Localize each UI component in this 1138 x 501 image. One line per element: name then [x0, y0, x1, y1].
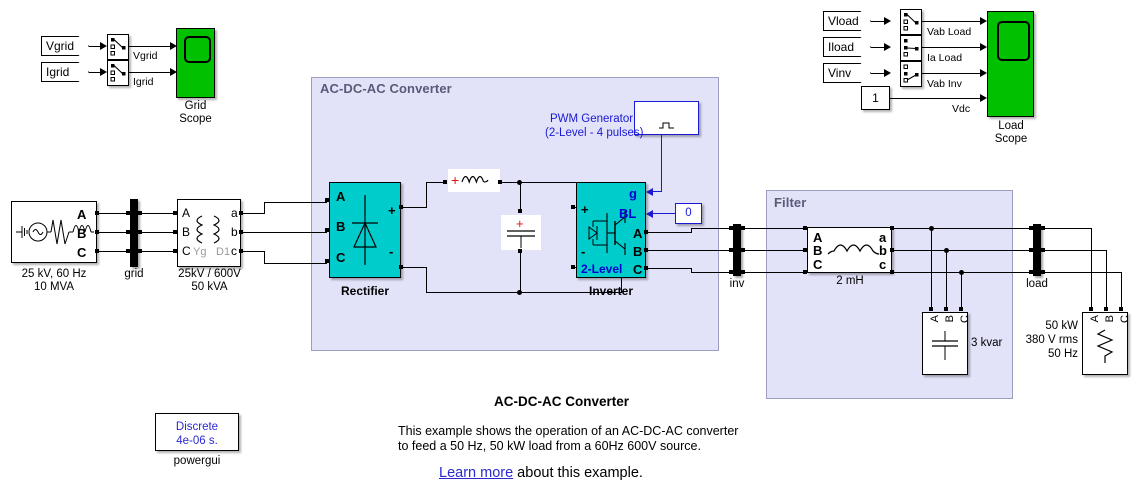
arrowhead	[884, 43, 891, 51]
wire-pwm-to-g-1	[661, 135, 662, 192]
inductor-icon: +	[448, 169, 500, 192]
wire-to-loadscope-2	[922, 47, 985, 48]
xfmr-port-A: A	[182, 207, 190, 219]
three-phase-source-block[interactable]: A B C	[11, 201, 97, 263]
port-marker	[173, 249, 177, 253]
inverter-port-g: g	[629, 187, 637, 200]
transformer-label-2: 50 kVA	[172, 281, 247, 294]
learn-more-suffix: about this example.	[513, 465, 643, 481]
signal-label-ia-load: Ia Load	[927, 52, 962, 64]
load-port-A: A	[1089, 315, 1101, 322]
wire-rect-plus-1	[403, 207, 427, 208]
wire-cap-tap-c	[961, 272, 962, 310]
grid-scope-block[interactable]	[176, 28, 215, 98]
capacitor-bank-port-A: A	[929, 315, 941, 322]
from-tag-vgrid[interactable]: Vgrid	[41, 36, 89, 56]
from-tag-vinv[interactable]: Vinv	[823, 63, 871, 83]
transformer-label-1: 25kV / 600V	[172, 268, 247, 281]
load-scope-label-1: Load	[971, 120, 1051, 133]
load-busbar-label: load	[1016, 278, 1058, 291]
blocking-constant-value: 0	[676, 207, 701, 219]
rectifier-port-a: A	[336, 190, 345, 203]
arrowhead	[884, 69, 891, 77]
manual-switch-icon	[108, 61, 128, 85]
load-label-3: 50 Hz	[1026, 348, 1078, 361]
inverter-port-a: A	[633, 227, 642, 240]
arrowhead	[100, 42, 107, 50]
description-body-line1: This example shows the operation of an A…	[398, 423, 738, 439]
manual-switch-igrid[interactable]	[107, 60, 129, 86]
load-scope-label-2: Scope	[971, 133, 1051, 146]
xfmr-port-c: c	[231, 245, 237, 257]
svg-text:+: +	[451, 172, 459, 188]
arrowhead-blue	[646, 210, 653, 218]
arrowhead	[980, 43, 987, 51]
wire-inv-c-1	[648, 268, 692, 269]
inv-busbar-label: inv	[716, 278, 758, 291]
grid-busbar-label: grid	[112, 268, 156, 281]
from-tag-vload[interactable]: Vload	[823, 11, 871, 31]
from-tag-igrid-label: Igrid	[46, 65, 69, 80]
source-port-b: B	[77, 227, 86, 240]
load-busbar[interactable]	[1033, 224, 1041, 276]
port-marker	[729, 270, 733, 274]
wire-rect-minus-2	[426, 267, 427, 293]
load-label-1: 50 kW	[1026, 320, 1078, 333]
port-marker	[571, 265, 575, 269]
port-marker	[126, 211, 130, 215]
from-tag-vload-label: Vload	[828, 14, 859, 29]
wire-cap-tap-a	[931, 228, 932, 310]
wire-bus-xfmr-c	[142, 251, 175, 252]
port-marker	[571, 205, 575, 209]
inverter-port-plus: +	[581, 203, 589, 216]
port-marker	[126, 249, 130, 253]
filter-inductor-label: 2 mH	[812, 275, 888, 288]
rectifier-port-minus: -	[389, 245, 393, 258]
arrowhead	[980, 94, 987, 102]
capacitor-bank-port-B: B	[944, 315, 956, 322]
inv-busbar[interactable]	[733, 224, 741, 276]
port-marker	[173, 211, 177, 215]
port-marker	[1119, 307, 1123, 311]
wire-switch-to-gridscope-1	[129, 46, 175, 47]
source-label-1: 25 kV, 60 Hz	[8, 268, 100, 281]
wire-filter-out-b	[894, 250, 1035, 251]
manual-switch-iload[interactable]	[900, 35, 922, 61]
filter-inductor-port-b: b	[879, 244, 887, 257]
wire-xfmr-a-1	[243, 213, 265, 214]
manual-switch-icon	[901, 62, 921, 86]
wire-xfmr-a-3	[264, 202, 327, 203]
port-marker	[1029, 270, 1033, 274]
grid-busbar[interactable]	[130, 199, 138, 267]
filter-inductor-port-C: C	[813, 258, 822, 271]
wire-xfmr-a-2	[264, 202, 265, 214]
port-marker	[325, 228, 329, 232]
description-body-line2: to feed a 50 Hz, 50 kW load from a 60Hz …	[398, 438, 701, 454]
pwm-generator-label-2: (2-Level - 4 pulses)	[545, 127, 643, 139]
xfmr-port-b: b	[231, 226, 238, 238]
svg-text:+: +	[516, 216, 524, 231]
port-marker	[1104, 307, 1108, 311]
grid-scope-label-1: Grid	[156, 100, 235, 113]
wire-switch-to-gridscope-2	[129, 72, 175, 73]
scope-screen	[184, 36, 211, 63]
wire-invbus-filter-b	[745, 250, 806, 251]
wire-to-loadscope-3	[922, 73, 985, 74]
port-marker	[518, 209, 522, 213]
capacitor-bank-block[interactable]: A B C	[922, 312, 968, 375]
capacitor-icon: +	[501, 215, 541, 250]
arrowhead-blue	[646, 188, 653, 196]
inverter-block[interactable]: g BL + - A B C 2-Level	[576, 182, 646, 278]
arrowhead	[980, 69, 987, 77]
capacitor-bank-port-C: C	[959, 315, 971, 323]
xfmr-winding-right-label: D1	[216, 246, 230, 258]
wire-filter-out-c	[894, 272, 1035, 273]
capacitor-bank-label: 3 kvar	[971, 337, 1019, 350]
port-marker	[173, 230, 177, 234]
powergui-block[interactable]: Discrete 4e-06 s.	[155, 413, 239, 451]
wire-bus-xfmr-a	[142, 213, 175, 214]
wire-to-loadscope-1	[922, 21, 985, 22]
xfmr-port-C: C	[182, 245, 191, 257]
filter-inductor-port-c: c	[879, 258, 886, 271]
from-tag-vgrid-label: Vgrid	[46, 39, 74, 54]
port-marker	[1029, 226, 1033, 230]
pwm-generator-block[interactable]	[634, 101, 699, 135]
source-port-c: C	[77, 246, 86, 259]
dc-inductor-block[interactable]: +	[448, 169, 500, 192]
powergui-line2: 4e-06 s.	[156, 434, 238, 448]
port-marker	[729, 226, 733, 230]
port-marker	[325, 259, 329, 263]
from-tag-igrid[interactable]: Igrid	[41, 62, 89, 82]
filter-title: Filter	[774, 195, 806, 210]
wire-const-to-bl	[653, 213, 676, 214]
inverter-inner-label: 2-Level	[581, 263, 622, 276]
grid-scope-label-2: Scope	[156, 113, 235, 126]
wire-loadbus-a-2	[1091, 228, 1092, 310]
powergui-line1: Discrete	[156, 420, 238, 434]
wire-inv-a-1	[648, 232, 692, 233]
inverter-label: Inverter	[576, 285, 646, 298]
wire-to-loadscope-4	[890, 98, 985, 99]
wire-invbus-filter-a	[745, 228, 806, 229]
wire-loadbus-b-2	[1106, 250, 1107, 310]
wire-inv-a-3	[691, 228, 733, 229]
wire-inv-b	[648, 250, 733, 251]
inverter-port-bl: BL	[619, 207, 636, 220]
xfmr-port-B: B	[182, 226, 190, 238]
wire-inv-c-3	[691, 272, 733, 273]
pwm-generator-label-1: PWM Generator	[550, 113, 633, 125]
xfmr-winding-left-label: Yg	[193, 246, 206, 258]
rectifier-port-c: C	[336, 251, 345, 264]
signal-label-igrid: Igrid	[133, 76, 153, 88]
manual-switch-vload[interactable]	[900, 9, 922, 35]
manual-switch-icon	[901, 36, 921, 60]
simulink-model-canvas: AC-DC-AC Converter Filter Vgrid Igrid	[0, 0, 1138, 501]
load-port-C: C	[1119, 315, 1131, 323]
port-marker	[944, 307, 948, 311]
port-marker	[803, 226, 807, 230]
wire-xfmr-b	[243, 232, 327, 233]
constant-one-value: 1	[862, 91, 889, 105]
constant-one-block[interactable]: 1	[861, 86, 890, 110]
acdcac-converter-title: AC-DC-AC Converter	[320, 81, 452, 96]
rectifier-label: Rectifier	[330, 285, 400, 298]
signal-label-vgrid: Vgrid	[133, 50, 158, 62]
wire-loadbus-a-1	[1045, 228, 1092, 229]
pulse-waveform-icon	[635, 102, 698, 134]
port-marker	[729, 248, 733, 252]
wire-rect-plus-2	[426, 182, 427, 208]
learn-more-link[interactable]: Learn more	[439, 465, 513, 481]
filter-inductor-block[interactable]: A B C a b c	[807, 227, 892, 273]
port-marker	[1089, 307, 1093, 311]
port-marker	[803, 270, 807, 274]
rectifier-port-b: B	[336, 220, 345, 233]
wire-cap-top	[520, 182, 521, 210]
wire-loadbus-c-1	[1045, 272, 1122, 273]
source-label-2: 10 MVA	[8, 281, 100, 294]
inverter-port-c: C	[633, 263, 642, 276]
signal-label-vab-inv: Vab Inv	[927, 78, 962, 90]
xfmr-port-a: a	[231, 207, 238, 219]
wire-filter-out-a	[894, 228, 1035, 229]
load-label-2: 380 V rms	[1016, 334, 1078, 347]
manual-switch-icon	[108, 35, 128, 59]
manual-switch-vinv[interactable]	[900, 61, 922, 87]
manual-switch-icon	[901, 10, 921, 34]
port-marker	[325, 198, 329, 202]
scope-screen	[997, 21, 1030, 61]
rectifier-port-plus: +	[388, 204, 396, 217]
inverter-port-b: B	[633, 245, 642, 258]
port-marker	[126, 230, 130, 234]
port-marker	[929, 307, 933, 311]
wire-loadbus-b-1	[1045, 250, 1107, 251]
signal-label-vab-load: Vab Load	[927, 26, 971, 38]
arrowhead	[884, 17, 891, 25]
port-marker	[1029, 248, 1033, 252]
from-tag-iload[interactable]: Iload	[823, 37, 871, 57]
inverter-port-minus: -	[581, 245, 585, 258]
blocking-constant-block[interactable]: 0	[675, 203, 702, 224]
load-scope-block[interactable]	[987, 11, 1034, 117]
from-tag-iload-label: Iload	[828, 40, 854, 55]
powergui-label: powergui	[155, 455, 239, 468]
port-marker	[959, 307, 963, 311]
manual-switch-vgrid[interactable]	[107, 34, 129, 60]
source-port-a: A	[77, 208, 86, 221]
port-marker	[803, 248, 807, 252]
arrowhead	[100, 68, 107, 76]
dc-capacitor-block[interactable]: +	[501, 215, 541, 250]
arrowhead	[980, 17, 987, 25]
transformer-block[interactable]: A B C a b c Yg D1	[177, 199, 241, 267]
wire-cap-bottom	[520, 251, 521, 293]
description-heading: AC-DC-AC Converter	[494, 394, 629, 409]
wire-xfmr-c-3	[264, 263, 327, 264]
rectifier-block[interactable]: A B C + -	[329, 182, 401, 278]
wire-invbus-filter-c	[745, 272, 806, 273]
wire-pwm-to-g-2	[653, 191, 662, 192]
wire-rect-minus-1	[403, 267, 427, 268]
from-tag-vinv-label: Vinv	[828, 66, 851, 81]
three-phase-load-block[interactable]: A B C	[1082, 312, 1128, 375]
signal-label-vdc: Vdc	[952, 103, 970, 115]
load-port-B: B	[1104, 315, 1116, 322]
wire-bus-xfmr-b	[142, 232, 175, 233]
wire-cap-tap-b	[946, 250, 947, 310]
filter-subsystem[interactable]	[766, 190, 1013, 399]
filter-inductor-port-B: B	[813, 244, 822, 257]
port-marker	[443, 180, 447, 184]
learn-more-line: Learn more about this example.	[439, 465, 643, 481]
wire-xfmr-c-1	[243, 251, 265, 252]
wire-loadbus-c-2	[1121, 272, 1122, 310]
